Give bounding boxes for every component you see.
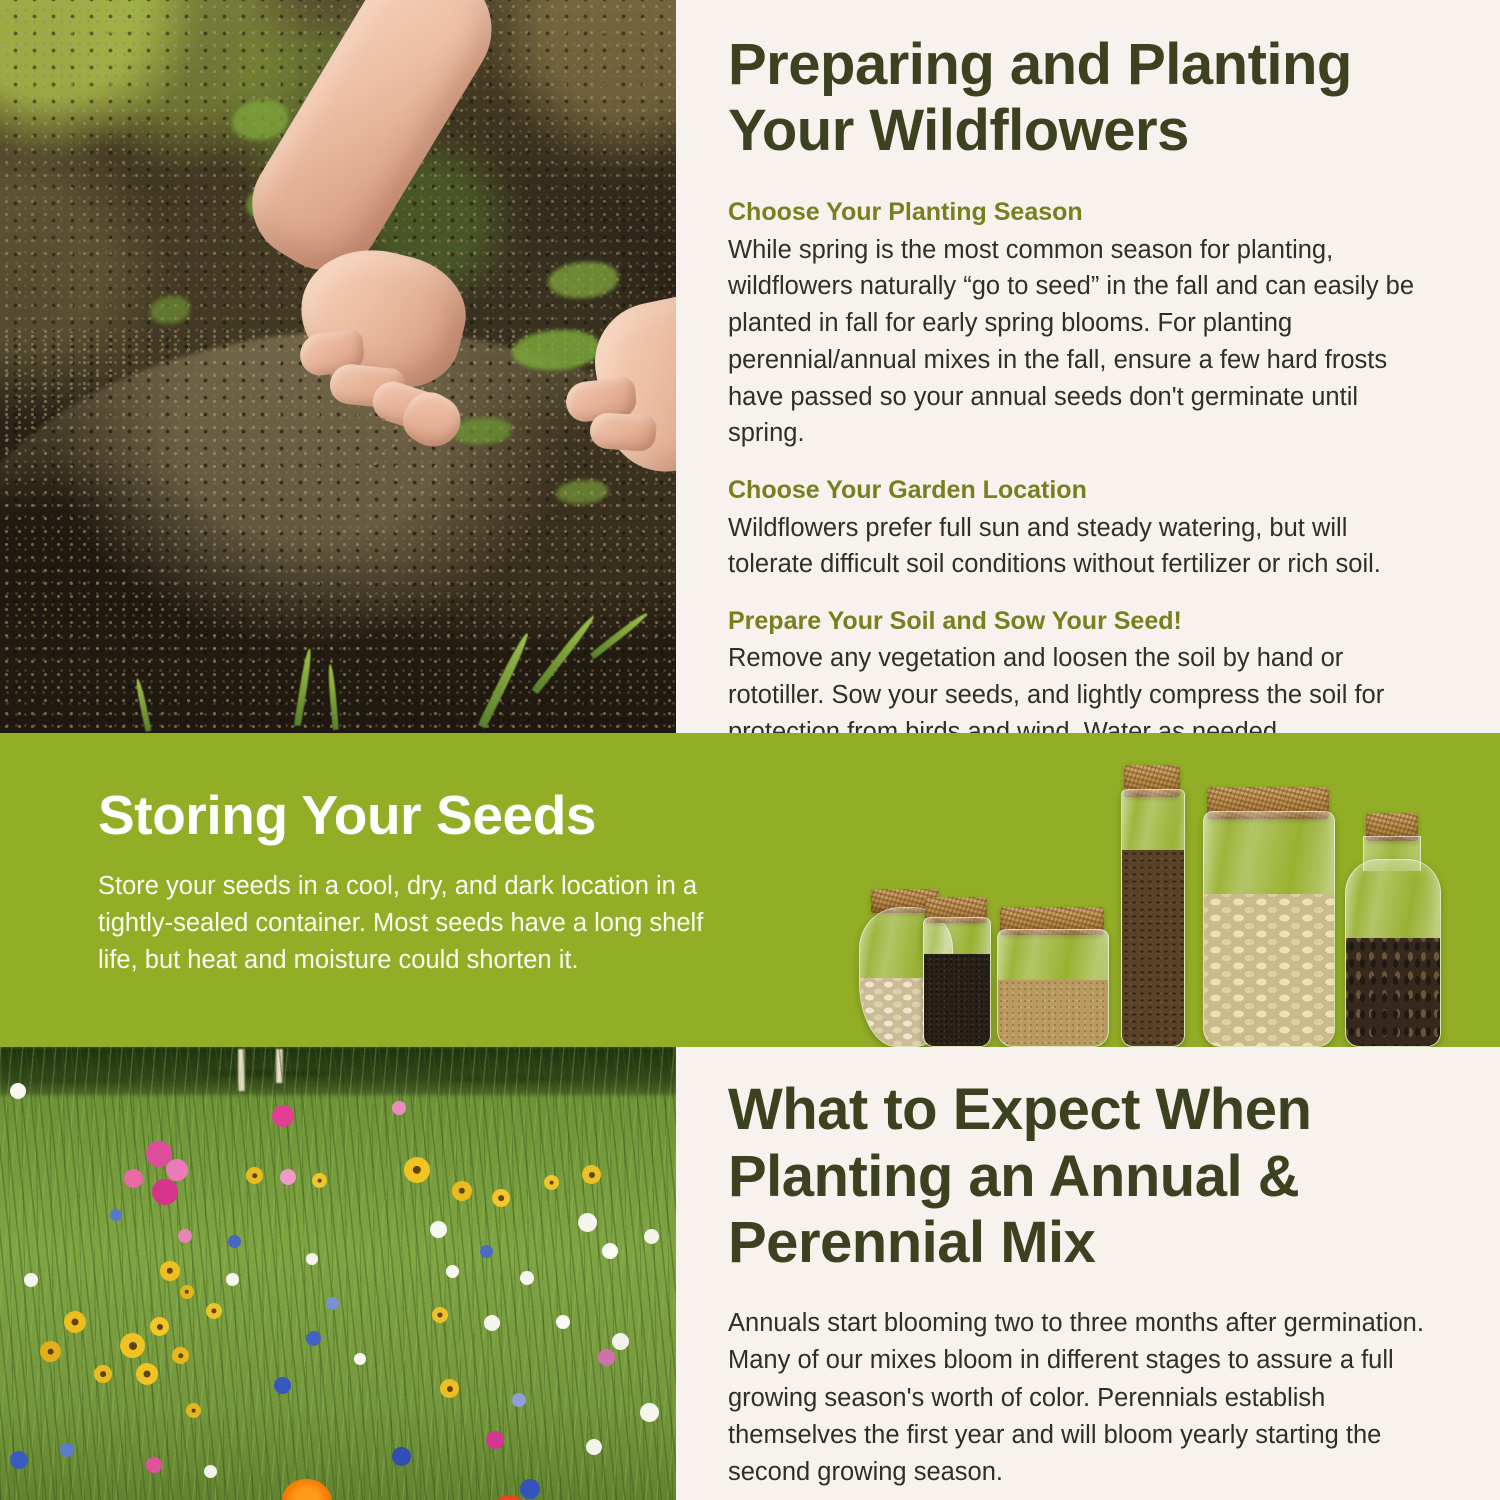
- flower-yellow: [432, 1307, 448, 1323]
- expect-text-column: What to Expect When Planting an Annual &…: [728, 1047, 1428, 1500]
- flower-yellow: [120, 1333, 145, 1358]
- jar-tan-seeds: [997, 899, 1107, 1047]
- flower-yellow: [64, 1311, 86, 1333]
- flower-blue-cornflower: [520, 1479, 540, 1499]
- photo-hands-sowing-seeds: [0, 0, 676, 733]
- flower-white: [602, 1243, 618, 1259]
- seed-fill-sunflower: [1346, 938, 1440, 1046]
- section-what-to-expect: What to Expect When Planting an Annual &…: [0, 1047, 1500, 1500]
- flower-white: [640, 1403, 659, 1422]
- meadow-grass-texture: [0, 1047, 676, 1500]
- subheading-garden-location: Choose Your Garden Location: [728, 474, 1428, 507]
- flower-white: [354, 1353, 366, 1365]
- flower-blue-cornflower: [392, 1447, 411, 1466]
- flower-yellow: [544, 1175, 559, 1190]
- flower-yellow: [440, 1379, 459, 1398]
- block-planting-season: Choose Your Planting Season While spring…: [728, 196, 1428, 452]
- flower-yellow: [40, 1341, 61, 1362]
- page-title-line1: Preparing and Planting: [728, 32, 1352, 97]
- block-prepare-soil: Prepare Your Soil and Sow Your Seed! Rem…: [728, 605, 1428, 751]
- flower-white: [10, 1083, 26, 1099]
- preparing-text-column: Preparing and Planting Your Wildflowers …: [728, 0, 1428, 733]
- jar-sunflower-seeds: [1345, 809, 1439, 1047]
- subheading-prepare-soil: Prepare Your Soil and Sow Your Seed!: [728, 605, 1428, 638]
- flower-blue-cornflower: [274, 1377, 291, 1394]
- seed-fill-black: [924, 954, 990, 1046]
- flower-blue-cornflower: [10, 1451, 28, 1469]
- flower-yellow: [206, 1303, 222, 1319]
- flower-pink: [392, 1101, 406, 1115]
- jar-black-seeds: [923, 895, 989, 1047]
- flower-white: [586, 1439, 602, 1455]
- flower-pink: [598, 1349, 615, 1366]
- flower-blue-cornflower: [228, 1235, 241, 1248]
- flower-white: [306, 1253, 318, 1265]
- flower-white: [24, 1273, 38, 1287]
- flower-pink: [146, 1457, 162, 1473]
- seed-fill-tan: [998, 980, 1108, 1046]
- flower-pink: [178, 1229, 192, 1243]
- body-garden-location: Wildflowers prefer full sun and steady w…: [728, 510, 1428, 583]
- photo-seed-jars: [845, 751, 1485, 1047]
- flower-yellow: [404, 1157, 430, 1183]
- flower-white: [556, 1315, 570, 1329]
- flower-yellow: [136, 1363, 158, 1385]
- jar-glass: [997, 929, 1109, 1047]
- storing-heading: Storing Your Seeds: [98, 785, 738, 846]
- expect-body: Annuals start blooming two to three mont…: [728, 1305, 1428, 1491]
- jar-glass: [923, 917, 991, 1047]
- flower-pink: [152, 1179, 178, 1205]
- block-garden-location: Choose Your Garden Location Wildflowers …: [728, 474, 1428, 583]
- page-title: Preparing and Planting Your Wildflowers: [728, 0, 1428, 164]
- flower-blue-cornflower: [110, 1209, 122, 1221]
- seed-fill-pumpkin: [1204, 894, 1334, 1046]
- flower-yellow: [246, 1167, 263, 1184]
- storing-text-column: Storing Your Seeds Store your seeds in a…: [98, 785, 738, 979]
- flower-white: [644, 1229, 659, 1244]
- flower-yellow: [180, 1285, 194, 1299]
- finger: [589, 412, 657, 453]
- seed-fill-brown: [1122, 850, 1184, 1046]
- jar-tall-brown-seeds: [1121, 767, 1183, 1047]
- flower-yellow: [160, 1261, 180, 1281]
- flower-blue-cornflower: [512, 1393, 526, 1407]
- flower-yellow: [452, 1181, 472, 1201]
- flower-white: [520, 1271, 534, 1285]
- jar-pumpkin-seeds: [1203, 785, 1333, 1047]
- falling-seed: [374, 462, 377, 465]
- page-title-line2: Your Wildflowers: [728, 98, 1189, 163]
- flower-pink: [486, 1431, 504, 1449]
- flower-pink: [124, 1169, 143, 1188]
- body-planting-season: While spring is the most common season f…: [728, 232, 1428, 452]
- falling-seed: [400, 486, 403, 489]
- falling-seed: [392, 444, 395, 447]
- flower-white: [578, 1213, 597, 1232]
- flower-pink: [280, 1169, 296, 1185]
- flower-yellow: [172, 1347, 189, 1364]
- flower-blue-cornflower: [480, 1245, 493, 1258]
- subheading-planting-season: Choose Your Planting Season: [728, 196, 1428, 229]
- flower-blue-cornflower: [326, 1297, 339, 1310]
- expect-heading-line3: Perennial Mix: [728, 1210, 1095, 1275]
- flower-yellow: [186, 1403, 201, 1418]
- flower-yellow: [150, 1317, 169, 1336]
- flower-white: [612, 1333, 629, 1350]
- flower-white: [446, 1265, 459, 1278]
- flower-yellow: [582, 1165, 601, 1184]
- flower-white: [204, 1465, 217, 1478]
- section-preparing-planting: Preparing and Planting Your Wildflowers …: [0, 0, 1500, 733]
- infographic-page: Preparing and Planting Your Wildflowers …: [0, 0, 1500, 1500]
- flower-yellow: [492, 1189, 510, 1207]
- flower-white: [226, 1273, 239, 1286]
- flower-yellow: [94, 1365, 112, 1383]
- flower-white: [430, 1221, 447, 1238]
- jar-glass: [1203, 811, 1335, 1047]
- falling-seed: [382, 418, 385, 421]
- jar-glass: [1345, 859, 1441, 1047]
- flower-blue-cornflower: [306, 1331, 321, 1346]
- jar-glass: [1121, 789, 1185, 1047]
- flower-white: [484, 1315, 500, 1331]
- photo-wildflower-meadow: [0, 1047, 676, 1500]
- flower-pink: [272, 1105, 294, 1127]
- flower-yellow: [312, 1173, 327, 1188]
- expect-heading: What to Expect When Planting an Annual &…: [728, 1047, 1428, 1277]
- flower-blue-cornflower: [60, 1443, 74, 1457]
- flower-pink: [166, 1159, 188, 1181]
- expect-heading-line2: Planting an Annual &: [728, 1144, 1299, 1209]
- storing-body: Store your seeds in a cool, dry, and dar…: [98, 868, 738, 980]
- expect-heading-line1: What to Expect When: [728, 1077, 1311, 1142]
- section-storing-seeds: Storing Your Seeds Store your seeds in a…: [0, 733, 1500, 1047]
